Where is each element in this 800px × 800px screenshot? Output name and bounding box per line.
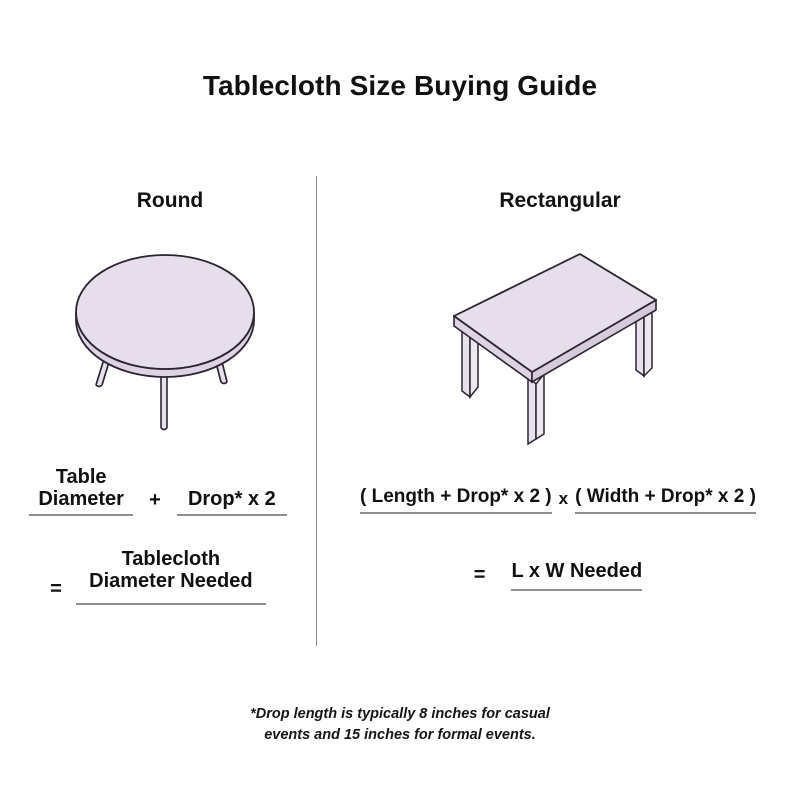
rectangular-table-illustration — [440, 248, 680, 448]
rectangular-group-width: ( Width + Drop* x 2 ) — [575, 486, 756, 514]
footnote-line-2: events and 15 inches for formal events. — [0, 725, 800, 746]
round-term-table-diameter: Table Diameter — [29, 466, 133, 516]
footnote-line-1: *Drop length is typically 8 inches for c… — [0, 704, 800, 725]
round-result: Tablecloth Diameter Needed — [76, 548, 266, 605]
round-term-drop: Drop* x 2 — [177, 488, 287, 515]
rectangular-group-length: ( Length + Drop* x 2 ) — [360, 486, 552, 514]
rectangular-result: L x W Needed — [511, 560, 642, 591]
rectangular-operator-times: x — [552, 489, 575, 514]
round-result-line-1: Tablecloth — [76, 548, 266, 570]
round-equals-sign: = — [50, 578, 76, 605]
page-title: Tablecloth Size Buying Guide — [0, 70, 800, 102]
round-result-line-2: Diameter Needed — [76, 570, 266, 592]
round-term-line-2: Diameter — [29, 488, 133, 510]
round-formula-line-2: = Tablecloth Diameter Needed — [12, 548, 304, 605]
rectangular-formula-line-2: = L x W Needed — [320, 560, 796, 591]
round-term-line-1: Table — [29, 466, 133, 488]
round-operator-plus: + — [133, 489, 177, 516]
section-heading-round: Round — [60, 189, 280, 213]
rectangular-formula-line-1: ( Length + Drop* x 2 ) x ( Width + Drop*… — [320, 486, 796, 514]
round-table-illustration — [60, 228, 300, 438]
footnote: *Drop length is typically 8 inches for c… — [0, 704, 800, 746]
column-divider — [316, 176, 317, 646]
round-formula-line-1: Table Diameter + Drop* x 2 — [12, 466, 304, 516]
rectangular-equals-sign: = — [474, 564, 512, 591]
infographic-page: Tablecloth Size Buying Guide Round Recta… — [0, 0, 800, 800]
section-heading-rectangular: Rectangular — [440, 189, 680, 213]
